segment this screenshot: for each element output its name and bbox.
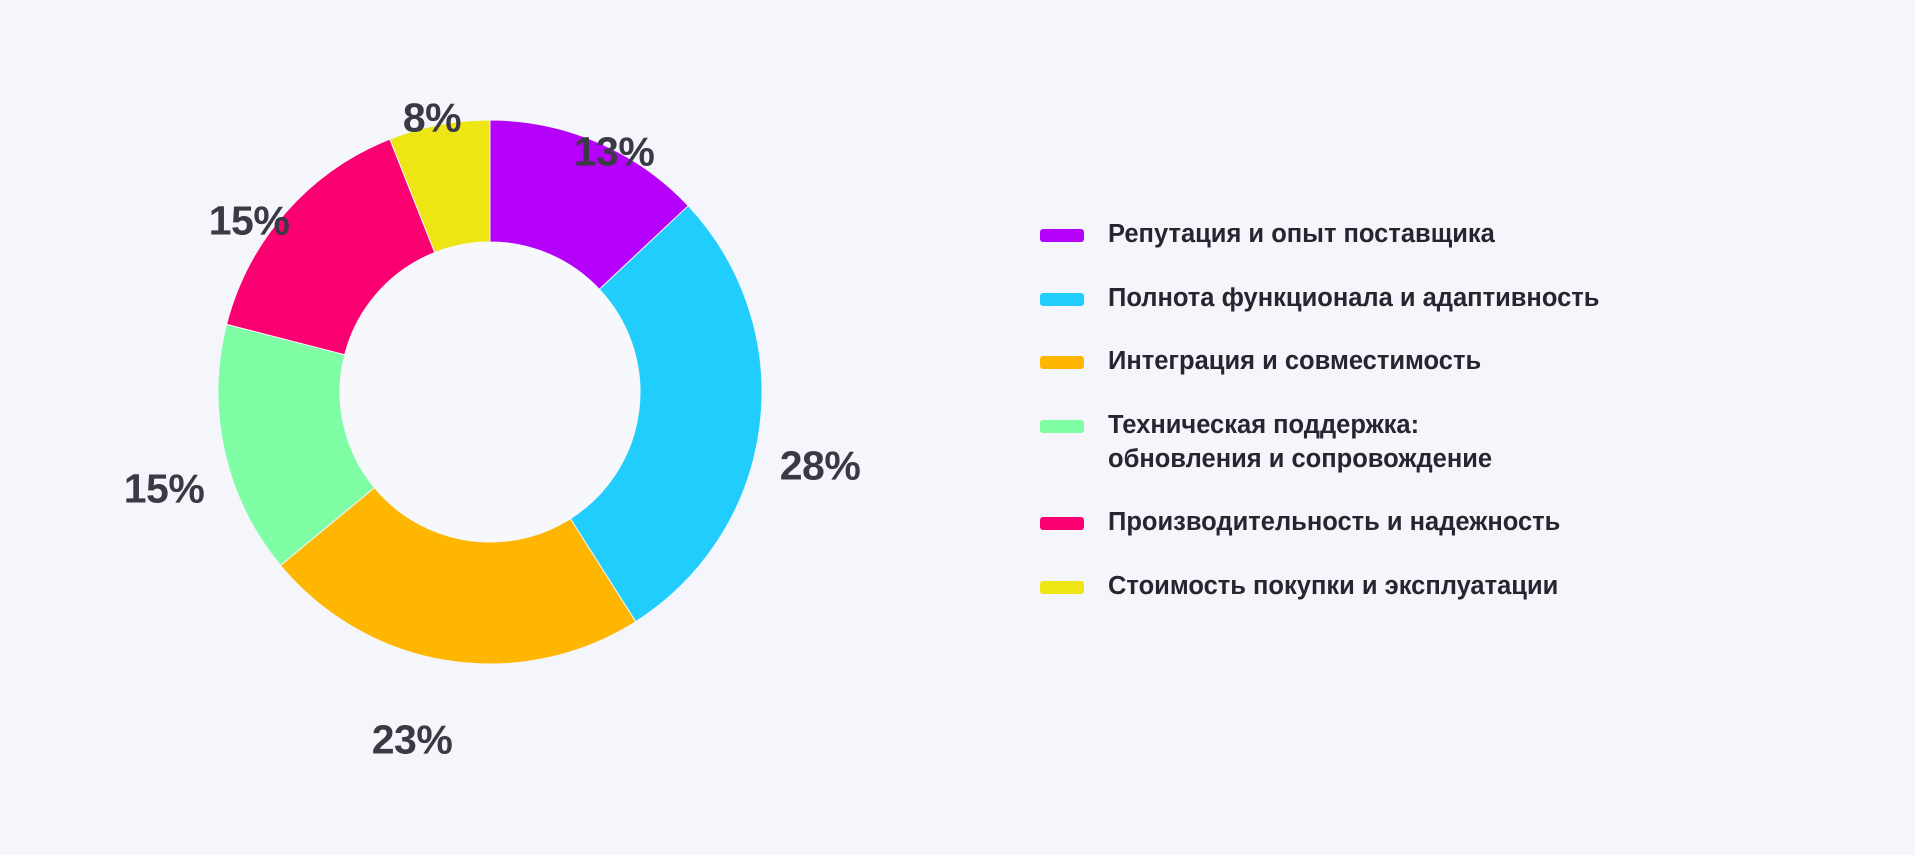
legend-swatch-icon <box>1040 420 1084 433</box>
legend-item-label: Репутация и опыт поставщика <box>1108 218 1495 252</box>
legend-item-cost[interactable]: Стоимость покупки и эксплуатации <box>1040 570 1760 604</box>
legend-item-integration[interactable]: Интеграция и совместимость <box>1040 345 1760 379</box>
legend-swatch-icon <box>1040 581 1084 594</box>
pct-label-reputation: 13% <box>574 132 655 173</box>
legend-item-performance[interactable]: Производительность и надежность <box>1040 506 1760 540</box>
pct-label-functional: 28% <box>780 446 861 487</box>
legend-item-label: Производительность и надежность <box>1108 506 1560 540</box>
legend-item-label: Стоимость покупки и эксплуатации <box>1108 570 1558 604</box>
chart-legend: Репутация и опыт поставщикаПолнота функц… <box>1040 218 1760 604</box>
donut-chart-area: 13%28%23%15%15%8% <box>0 0 1000 855</box>
legend-item-support[interactable]: Техническая поддержка: обновления и сопр… <box>1040 409 1760 476</box>
legend-item-label: Интеграция и совместимость <box>1108 345 1481 379</box>
legend-swatch-icon <box>1040 229 1084 242</box>
pct-label-performance: 15% <box>209 201 290 242</box>
legend-item-label: Техническая поддержка: обновления и сопр… <box>1108 409 1492 476</box>
donut-hole <box>340 242 640 542</box>
pct-label-integration: 23% <box>372 720 453 761</box>
donut-chart-svg <box>0 0 1000 855</box>
legend-item-label: Полнота функционала и адаптивность <box>1108 282 1599 316</box>
legend-swatch-icon <box>1040 293 1084 306</box>
legend-swatch-icon <box>1040 517 1084 530</box>
donut-chart-page: 13%28%23%15%15%8% Репутация и опыт поста… <box>0 0 1915 855</box>
legend-item-reputation[interactable]: Репутация и опыт поставщика <box>1040 218 1760 252</box>
pct-label-cost: 8% <box>403 98 461 139</box>
pct-label-support: 15% <box>124 469 205 510</box>
legend-item-functional[interactable]: Полнота функционала и адаптивность <box>1040 282 1760 316</box>
legend-swatch-icon <box>1040 356 1084 369</box>
